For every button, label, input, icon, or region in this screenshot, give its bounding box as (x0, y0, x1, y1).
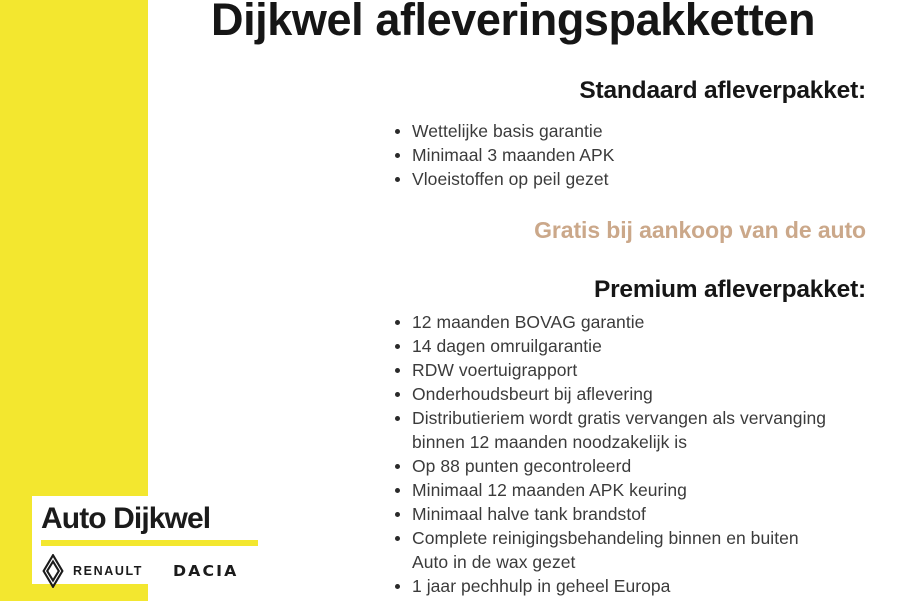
list-item: Vloeistoffen op peil gezet (300, 167, 866, 191)
page-title: Dijkwel afleveringspakketten (160, 0, 866, 46)
list-item: Onderhoudsbeurt bij aflevering (300, 382, 866, 406)
list-item: Minimaal 3 maanden APK (300, 143, 866, 167)
standaard-package-tagline: Gratis bij aankoop van de auto (300, 217, 866, 245)
dealer-logo: Auto Dijkwel RENAULT DACIA (32, 496, 267, 584)
list-item: Wettelijke basis garantie (300, 119, 866, 143)
list-item: 14 dagen omruilgarantie (300, 334, 866, 358)
renault-diamond-icon (41, 554, 65, 588)
list-item: 12 maanden BOVAG garantie (300, 310, 866, 334)
premium-package-list: 12 maanden BOVAG garantie 14 dagen omrui… (300, 310, 866, 598)
list-item: 1 jaar pechhulp in geheel Europa (300, 574, 866, 598)
logo-divider-rule (41, 540, 258, 546)
renault-wordmark: RENAULT (73, 564, 143, 578)
standaard-package-list: Wettelijke basis garantie Minimaal 3 maa… (300, 119, 866, 191)
list-item-continuation: binnen 12 maanden noodzakelijk is (300, 430, 866, 454)
list-item: Complete reinigingsbehandeling binnen en… (300, 526, 866, 550)
dacia-wordmark: DACIA (173, 562, 238, 580)
list-item: RDW voertuigrapport (300, 358, 866, 382)
brand-row: RENAULT DACIA (41, 554, 258, 588)
list-item: Minimaal 12 maanden APK keuring (300, 478, 866, 502)
list-item-continuation: Auto in de wax gezet (300, 550, 866, 574)
list-item: Op 88 punten gecontroleerd (300, 454, 866, 478)
standaard-package-heading: Standaard afleverpakket: (300, 76, 866, 105)
list-item: Distributieriem wordt gratis vervangen a… (300, 406, 866, 430)
promo-banner: Dijkwel afleveringspakketten Standaard a… (0, 0, 902, 601)
premium-package-heading: Premium afleverpakket: (300, 275, 866, 304)
dealer-wordmark: Auto Dijkwel (41, 502, 258, 536)
list-item: Minimaal halve tank brandstof (300, 502, 866, 526)
packages-content: Standaard afleverpakket: Wettelijke basi… (300, 76, 866, 598)
